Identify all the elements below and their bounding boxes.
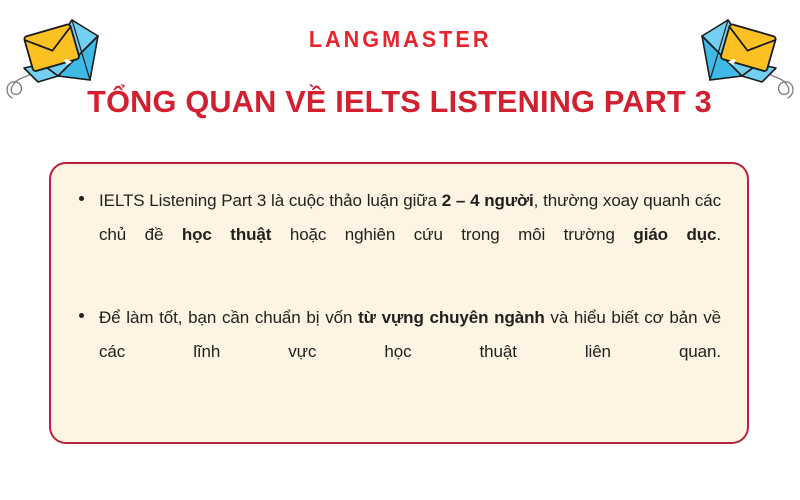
list-item: Để làm tốt, bạn cần chuẩn bị vốn từ vựng… bbox=[71, 301, 721, 404]
page-title: TỔNG QUAN VỀ IELTS LISTENING PART 3 bbox=[88, 84, 713, 120]
content-card: IELTS Listening Part 3 là cuộc thảo luận… bbox=[49, 162, 749, 444]
bullet-dot-icon bbox=[79, 196, 84, 201]
list-item: IELTS Listening Part 3 là cuộc thảo luận… bbox=[71, 184, 721, 287]
list-item-text: Để làm tốt, bạn cần chuẩn bị vốn từ vựng… bbox=[99, 301, 721, 404]
bullet-list: IELTS Listening Part 3 là cuộc thảo luận… bbox=[71, 184, 721, 404]
brand-logo-text: LANGMASTER bbox=[309, 26, 492, 53]
brand-header: LANGMASTER bbox=[0, 26, 800, 53]
list-item-text: IELTS Listening Part 3 là cuộc thảo luận… bbox=[99, 184, 721, 287]
slide-canvas: LANGMASTER TỔNG QUAN VỀ IELTS LISTENING … bbox=[0, 0, 800, 500]
bullet-dot-icon bbox=[79, 313, 84, 318]
page-title-container: TỔNG QUAN VỀ IELTS LISTENING PART 3 bbox=[0, 84, 800, 120]
